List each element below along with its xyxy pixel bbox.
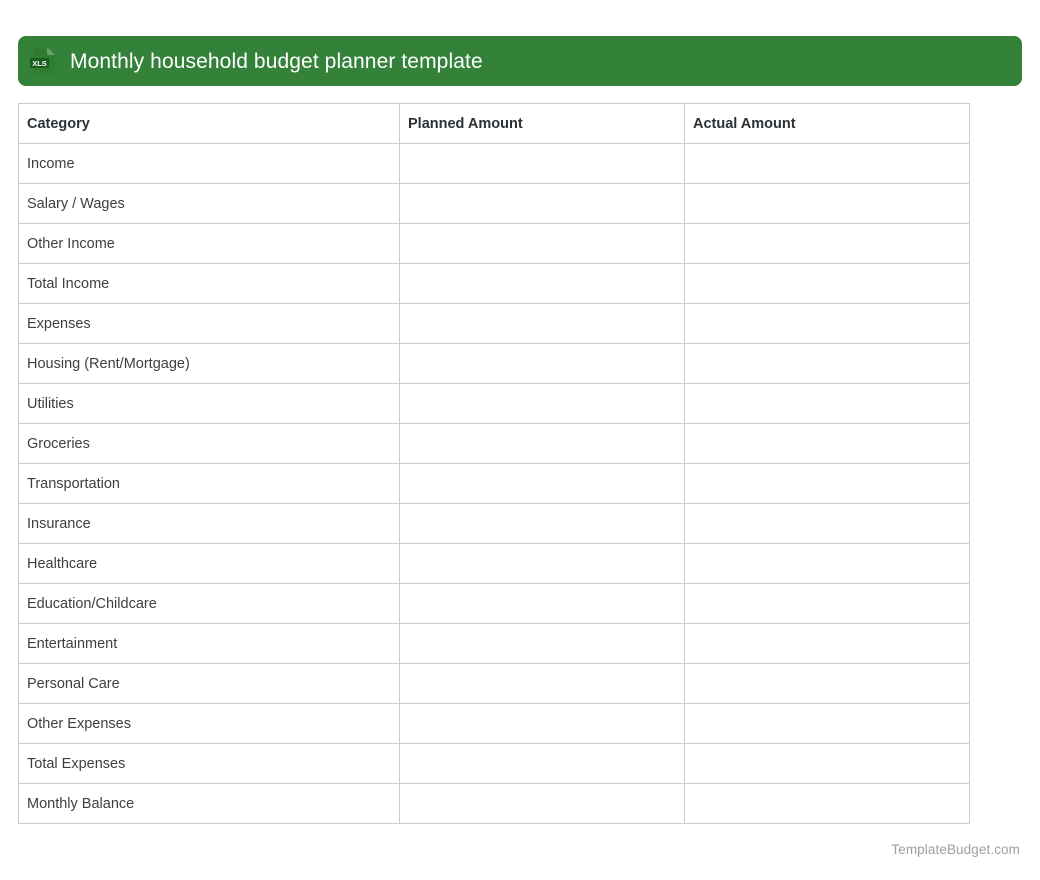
table-header: Category Planned Amount Actual Amount [19, 104, 970, 144]
cell-planned-amount[interactable] [400, 144, 685, 184]
table-row: Groceries [19, 424, 970, 464]
table-row: Salary / Wages [19, 184, 970, 224]
table-row: Total Income [19, 264, 970, 304]
cell-category: Healthcare [19, 544, 400, 584]
cell-category: Personal Care [19, 664, 400, 704]
cell-actual-amount[interactable] [685, 264, 970, 304]
xls-file-icon: XLS [30, 45, 60, 77]
cell-planned-amount[interactable] [400, 664, 685, 704]
table-row: Utilities [19, 384, 970, 424]
table-row: Entertainment [19, 624, 970, 664]
cell-category: Monthly Balance [19, 784, 400, 824]
cell-category: Expenses [19, 304, 400, 344]
cell-actual-amount[interactable] [685, 144, 970, 184]
cell-actual-amount[interactable] [685, 784, 970, 824]
cell-planned-amount[interactable] [400, 264, 685, 304]
document-header-banner: XLS Monthly household budget planner tem… [18, 36, 1022, 86]
cell-category: Entertainment [19, 624, 400, 664]
cell-planned-amount[interactable] [400, 584, 685, 624]
page-title: Monthly household budget planner templat… [70, 51, 483, 72]
table-row: Transportation [19, 464, 970, 504]
cell-actual-amount[interactable] [685, 624, 970, 664]
cell-planned-amount[interactable] [400, 744, 685, 784]
table-row: Education/Childcare [19, 584, 970, 624]
table-body: IncomeSalary / WagesOther IncomeTotal In… [19, 144, 970, 824]
cell-actual-amount[interactable] [685, 584, 970, 624]
column-header-category: Category [19, 104, 400, 144]
cell-actual-amount[interactable] [685, 504, 970, 544]
cell-planned-amount[interactable] [400, 304, 685, 344]
svg-text:XLS: XLS [32, 59, 47, 68]
cell-category: Total Income [19, 264, 400, 304]
cell-planned-amount[interactable] [400, 624, 685, 664]
cell-actual-amount[interactable] [685, 304, 970, 344]
table-row: Healthcare [19, 544, 970, 584]
cell-category: Utilities [19, 384, 400, 424]
cell-category: Transportation [19, 464, 400, 504]
table-row: Housing (Rent/Mortgage) [19, 344, 970, 384]
table-row: Insurance [19, 504, 970, 544]
cell-planned-amount[interactable] [400, 424, 685, 464]
cell-actual-amount[interactable] [685, 344, 970, 384]
cell-actual-amount[interactable] [685, 384, 970, 424]
cell-actual-amount[interactable] [685, 184, 970, 224]
cell-category: Groceries [19, 424, 400, 464]
cell-actual-amount[interactable] [685, 744, 970, 784]
cell-category: Education/Childcare [19, 584, 400, 624]
column-header-actual-amount: Actual Amount [685, 104, 970, 144]
cell-planned-amount[interactable] [400, 784, 685, 824]
cell-planned-amount[interactable] [400, 704, 685, 744]
cell-planned-amount[interactable] [400, 464, 685, 504]
column-header-planned-amount: Planned Amount [400, 104, 685, 144]
cell-planned-amount[interactable] [400, 544, 685, 584]
cell-category: Total Expenses [19, 744, 400, 784]
table-row: Other Income [19, 224, 970, 264]
cell-actual-amount[interactable] [685, 544, 970, 584]
cell-planned-amount[interactable] [400, 504, 685, 544]
cell-category: Insurance [19, 504, 400, 544]
cell-category: Salary / Wages [19, 184, 400, 224]
cell-planned-amount[interactable] [400, 344, 685, 384]
table-row: Income [19, 144, 970, 184]
table-row: Other Expenses [19, 704, 970, 744]
cell-planned-amount[interactable] [400, 184, 685, 224]
cell-category: Other Income [19, 224, 400, 264]
table-row: Total Expenses [19, 744, 970, 784]
cell-actual-amount[interactable] [685, 704, 970, 744]
budget-table: Category Planned Amount Actual Amount In… [18, 103, 970, 824]
table-row: Personal Care [19, 664, 970, 704]
site-attribution: TemplateBudget.com [891, 842, 1020, 857]
cell-category: Other Expenses [19, 704, 400, 744]
cell-planned-amount[interactable] [400, 384, 685, 424]
cell-actual-amount[interactable] [685, 224, 970, 264]
cell-actual-amount[interactable] [685, 424, 970, 464]
cell-category: Housing (Rent/Mortgage) [19, 344, 400, 384]
table-header-row: Category Planned Amount Actual Amount [19, 104, 970, 144]
cell-actual-amount[interactable] [685, 464, 970, 504]
cell-planned-amount[interactable] [400, 224, 685, 264]
table-row: Monthly Balance [19, 784, 970, 824]
cell-actual-amount[interactable] [685, 664, 970, 704]
cell-category: Income [19, 144, 400, 184]
table-row: Expenses [19, 304, 970, 344]
